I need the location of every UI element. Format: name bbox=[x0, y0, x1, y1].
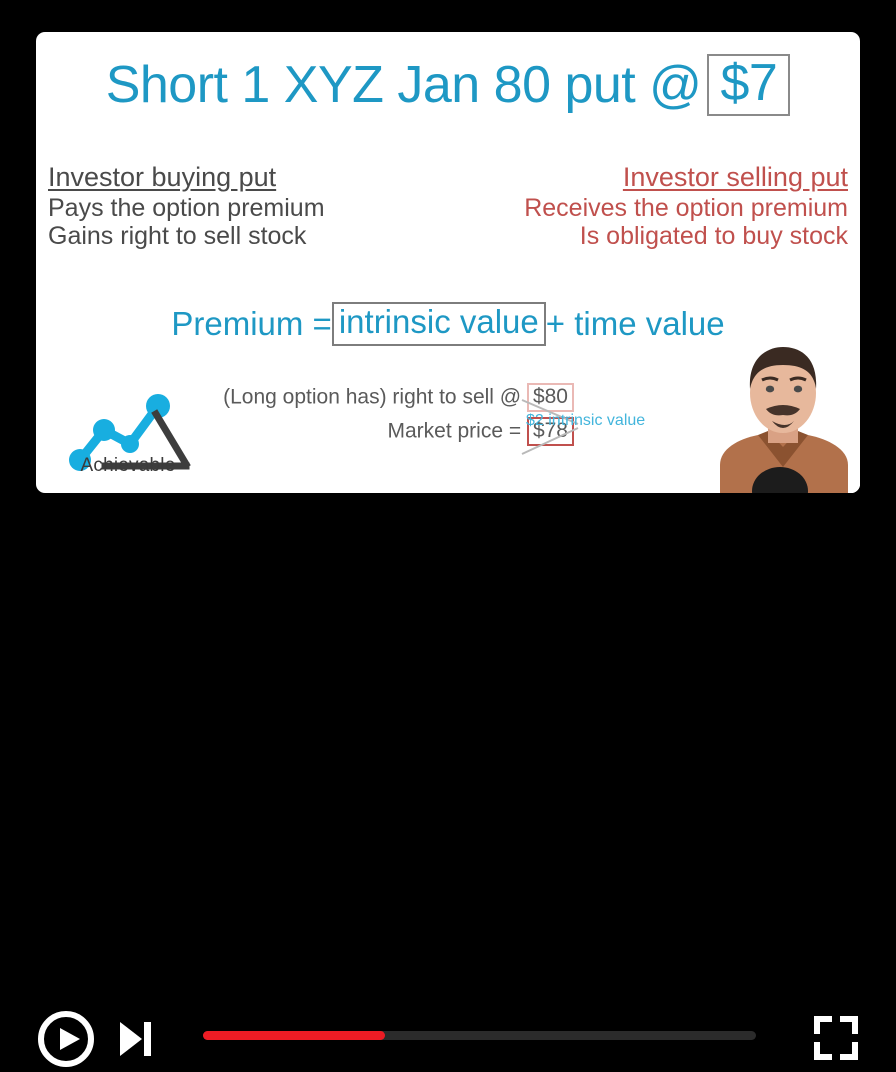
title-boxed-price: $7 bbox=[707, 54, 790, 116]
presenter-video-inset bbox=[706, 339, 860, 493]
next-track-icon[interactable] bbox=[113, 1019, 155, 1059]
intrinsic-value-annotation: (Long option has) right to sell @ $80 Ma… bbox=[154, 380, 574, 449]
buyer-line-1: Pays the option premium bbox=[48, 194, 448, 223]
achievable-wordmark: Achievable bbox=[58, 455, 198, 477]
seller-line-1: Receives the option premium bbox=[448, 194, 848, 223]
seller-column: Investor selling put Receives the option… bbox=[448, 162, 860, 251]
buyer-line-2: Gains right to sell stock bbox=[48, 222, 448, 251]
market-price-label: Market price = bbox=[387, 420, 521, 443]
intrinsic-value-callout: $2 intrinsic value bbox=[526, 412, 645, 430]
slide-canvas: Short 1 XYZ Jan 80 put @$7 Investor buyi… bbox=[36, 32, 860, 493]
progress-bar[interactable] bbox=[203, 1031, 756, 1040]
market-price-line: Market price = $78 bbox=[154, 414, 574, 448]
buyer-column: Investor buying put Pays the option prem… bbox=[36, 162, 448, 251]
progress-fill bbox=[203, 1031, 385, 1040]
video-player: Short 1 XYZ Jan 80 put @$7 Investor buyi… bbox=[0, 0, 896, 603]
play-button[interactable] bbox=[38, 1011, 94, 1067]
player-controls-bar bbox=[0, 497, 896, 603]
seller-line-2: Is obligated to buy stock bbox=[448, 222, 848, 251]
right-to-sell-line: (Long option has) right to sell @ $80 bbox=[154, 380, 574, 414]
compare-columns: Investor buying put Pays the option prem… bbox=[36, 162, 860, 251]
fullscreen-icon[interactable] bbox=[813, 1015, 859, 1061]
formula-boxed-intrinsic-value: intrinsic value bbox=[332, 302, 546, 346]
buyer-heading: Investor buying put bbox=[48, 162, 448, 194]
right-to-sell-label: (Long option has) right to sell @ bbox=[223, 385, 521, 408]
slide-title: Short 1 XYZ Jan 80 put @$7 bbox=[36, 54, 860, 116]
formula-tail: + time value bbox=[546, 305, 725, 342]
seller-heading: Investor selling put bbox=[448, 162, 848, 194]
slide-title-text: Short 1 XYZ Jan 80 put @ bbox=[106, 56, 702, 114]
formula-lead: Premium = bbox=[171, 305, 331, 342]
